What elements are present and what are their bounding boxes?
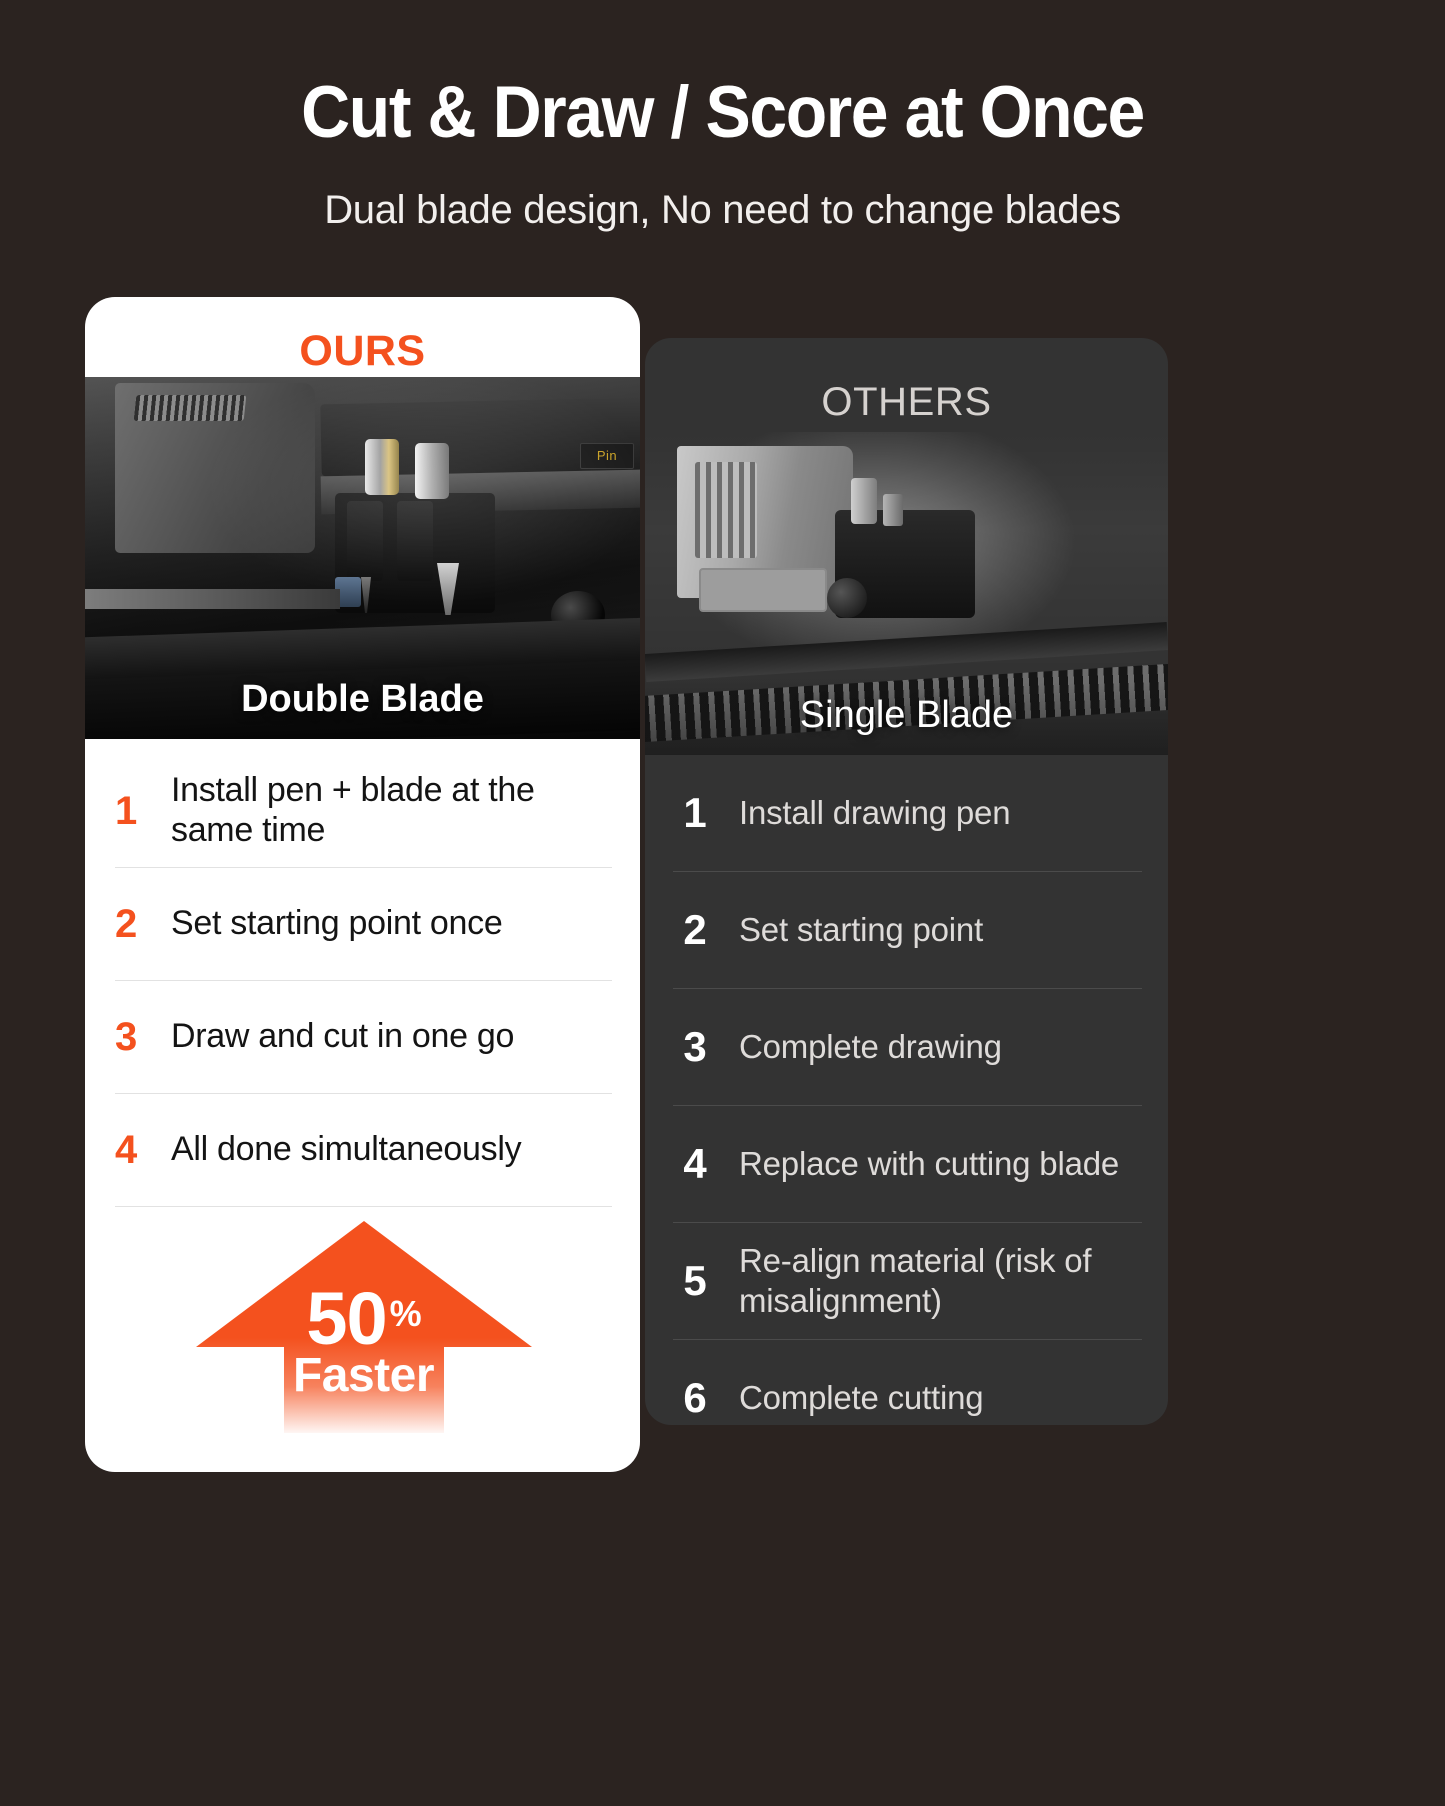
step-text: Complete drawing bbox=[739, 1027, 1002, 1067]
list-item: 1 Install pen + blade at the same time bbox=[115, 755, 612, 868]
step-text: Replace with cutting blade bbox=[739, 1144, 1119, 1184]
faster-badge: 50 % Faster bbox=[115, 1219, 612, 1433]
step-text: Set starting point bbox=[739, 910, 983, 950]
others-roller-shape bbox=[827, 578, 867, 618]
others-photo-caption: Single Blade bbox=[645, 694, 1168, 737]
step-number: 1 bbox=[115, 791, 149, 831]
list-item: 4 All done simultaneously bbox=[115, 1094, 612, 1207]
ours-card: OURS Pin Double Blade 1 bbox=[85, 297, 640, 1472]
step-number: 1 bbox=[673, 792, 717, 834]
step-text: Complete cutting bbox=[739, 1378, 983, 1418]
step-text: Install drawing pen bbox=[739, 793, 1010, 833]
others-card: OTHERS Single Blade 1 Install drawing pe… bbox=[645, 338, 1168, 1425]
faster-badge-label: 50 % Faster bbox=[214, 1283, 514, 1400]
list-item: 3 Complete drawing bbox=[673, 989, 1142, 1106]
step-number: 2 bbox=[673, 909, 717, 951]
others-step-list: 1 Install drawing pen 2 Set starting poi… bbox=[645, 755, 1168, 1425]
ours-header-label: OURS bbox=[299, 327, 425, 376]
others-printhead-shape bbox=[677, 446, 853, 598]
faster-badge-value-row: 50 % bbox=[214, 1283, 514, 1354]
others-header-label: OTHERS bbox=[821, 380, 991, 425]
list-item: 3 Draw and cut in one go bbox=[115, 981, 612, 1094]
step-text: Install pen + blade at the same time bbox=[171, 771, 612, 851]
others-machine-photo: Single Blade bbox=[645, 432, 1168, 755]
list-item: 2 Set starting point bbox=[673, 872, 1142, 989]
step-number: 2 bbox=[115, 904, 149, 944]
step-text: Draw and cut in one go bbox=[171, 1017, 514, 1057]
step-text: All done simultaneously bbox=[171, 1130, 521, 1170]
faster-badge-value: 50 bbox=[306, 1283, 386, 1354]
step-number: 3 bbox=[115, 1017, 149, 1057]
step-number: 4 bbox=[673, 1143, 717, 1185]
others-card-header: OTHERS bbox=[645, 338, 1168, 432]
others-knob-shape bbox=[851, 478, 877, 524]
ours-card-header: OURS bbox=[85, 297, 640, 377]
list-item: 5 Re-align material (risk of misalignmen… bbox=[673, 1223, 1142, 1340]
ours-machine-photo: Pin Double Blade bbox=[85, 377, 640, 739]
others-vent-shape bbox=[695, 462, 757, 558]
list-item: 2 Set starting point once bbox=[115, 868, 612, 981]
faster-badge-text: Faster bbox=[214, 1352, 514, 1400]
others-plate-shape bbox=[699, 568, 827, 612]
step-number: 3 bbox=[673, 1026, 717, 1068]
step-text: Re-align material (risk of misalignment) bbox=[739, 1241, 1142, 1322]
ours-photo-caption: Double Blade bbox=[85, 678, 640, 721]
comparison-cards: OTHERS Single Blade 1 Install drawing pe… bbox=[0, 0, 1445, 1806]
list-item: 4 Replace with cutting blade bbox=[673, 1106, 1142, 1223]
step-number: 6 bbox=[673, 1377, 717, 1419]
step-number: 5 bbox=[673, 1260, 717, 1302]
ours-step-list: 1 Install pen + blade at the same time 2… bbox=[85, 739, 640, 1433]
others-knob-secondary-shape bbox=[883, 494, 903, 526]
step-text: Set starting point once bbox=[171, 904, 502, 944]
list-item: 1 Install drawing pen bbox=[673, 755, 1142, 872]
list-item: 6 Complete cutting bbox=[673, 1340, 1142, 1425]
faster-badge-unit: % bbox=[390, 1297, 421, 1332]
step-number: 4 bbox=[115, 1130, 149, 1170]
